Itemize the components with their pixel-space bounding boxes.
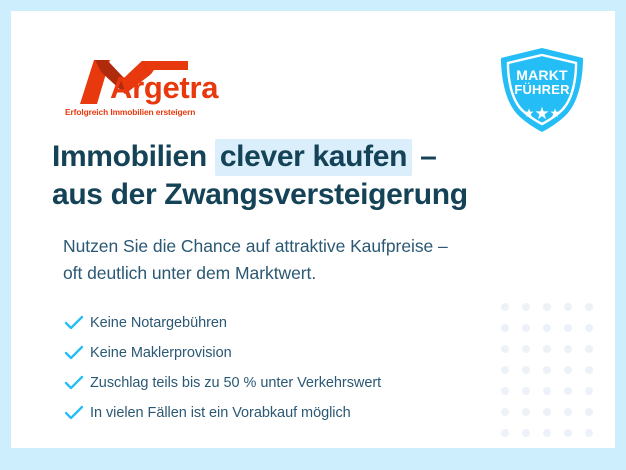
dot <box>501 429 509 437</box>
dot <box>564 324 572 332</box>
star-icon-center: ★ <box>534 104 549 123</box>
subtitle-line2: oft deutlich unter dem Marktwert. <box>63 263 316 283</box>
dot <box>501 387 509 395</box>
dot <box>585 345 593 353</box>
badge-line2: FÜHRER <box>498 83 586 97</box>
dot <box>522 345 530 353</box>
dot <box>585 387 593 395</box>
page-title: Immobilien clever kaufen – aus der Zwang… <box>52 138 532 215</box>
star-icon-right: ★ <box>550 106 561 120</box>
check-icon <box>64 372 90 394</box>
market-leader-badge: MARKT FÜHRER ★★★ <box>498 47 586 133</box>
list-item-label: In vielen Fällen ist ein Vorabkauf mögli… <box>90 405 351 421</box>
dot <box>585 429 593 437</box>
dot <box>585 303 593 311</box>
dot <box>585 324 593 332</box>
dot <box>564 366 572 374</box>
brand-logo: Argetra Erfolgreich Immobilien ersteiger… <box>64 56 214 121</box>
dot <box>543 387 551 395</box>
headline-line2: aus der Zwangsversteigerung <box>52 178 468 211</box>
banner-canvas: Argetra Erfolgreich Immobilien ersteiger… <box>11 11 615 448</box>
subtitle-line1: Nutzen Sie die Chance auf attraktive Kau… <box>63 236 448 256</box>
dot <box>543 324 551 332</box>
list-item-label: Keine Maklerprovision <box>90 345 232 361</box>
dot <box>501 345 509 353</box>
dot <box>585 366 593 374</box>
benefits-list: Keine Notargebühren Keine Maklerprovisio… <box>64 308 484 428</box>
dot <box>564 387 572 395</box>
dot <box>543 429 551 437</box>
dot <box>543 345 551 353</box>
dot <box>564 303 572 311</box>
dot <box>522 324 530 332</box>
page-subtitle: Nutzen Sie die Chance auf attraktive Kau… <box>63 233 533 286</box>
list-item-label: Zuschlag teils bis zu 50 % unter Verkehr… <box>90 375 381 391</box>
dot <box>564 408 572 416</box>
badge-text: MARKT FÜHRER <box>498 68 586 96</box>
logo-wordmark: Argetra <box>110 72 218 103</box>
dot <box>543 366 551 374</box>
star-icon-left: ★ <box>524 106 535 120</box>
dot-grid-decoration <box>494 303 606 448</box>
dot <box>585 408 593 416</box>
logo-tagline: Erfolgreich Immobilien ersteigern <box>65 107 195 117</box>
headline-highlight: clever kaufen <box>215 139 412 176</box>
badge-line1: MARKT <box>498 68 586 83</box>
dot <box>501 324 509 332</box>
dot <box>564 345 572 353</box>
badge-stars: ★★★ <box>498 105 586 122</box>
dot <box>522 387 530 395</box>
dot <box>501 303 509 311</box>
headline-line1-post: – <box>412 140 436 173</box>
dot <box>522 429 530 437</box>
check-icon <box>64 312 90 334</box>
dot <box>522 303 530 311</box>
list-item: Keine Maklerprovision <box>64 338 484 368</box>
dot <box>543 408 551 416</box>
dot <box>522 408 530 416</box>
dot <box>501 366 509 374</box>
dot <box>543 303 551 311</box>
check-icon <box>64 342 90 364</box>
dot <box>564 429 572 437</box>
list-item: Keine Notargebühren <box>64 308 484 338</box>
promo-banner: Argetra Erfolgreich Immobilien ersteiger… <box>0 0 626 470</box>
list-item: In vielen Fällen ist ein Vorabkauf mögli… <box>64 398 484 428</box>
list-item-label: Keine Notargebühren <box>90 315 227 331</box>
dot <box>522 366 530 374</box>
dot <box>501 408 509 416</box>
check-icon <box>64 402 90 424</box>
headline-line1-pre: Immobilien <box>52 140 215 173</box>
list-item: Zuschlag teils bis zu 50 % unter Verkehr… <box>64 368 484 398</box>
